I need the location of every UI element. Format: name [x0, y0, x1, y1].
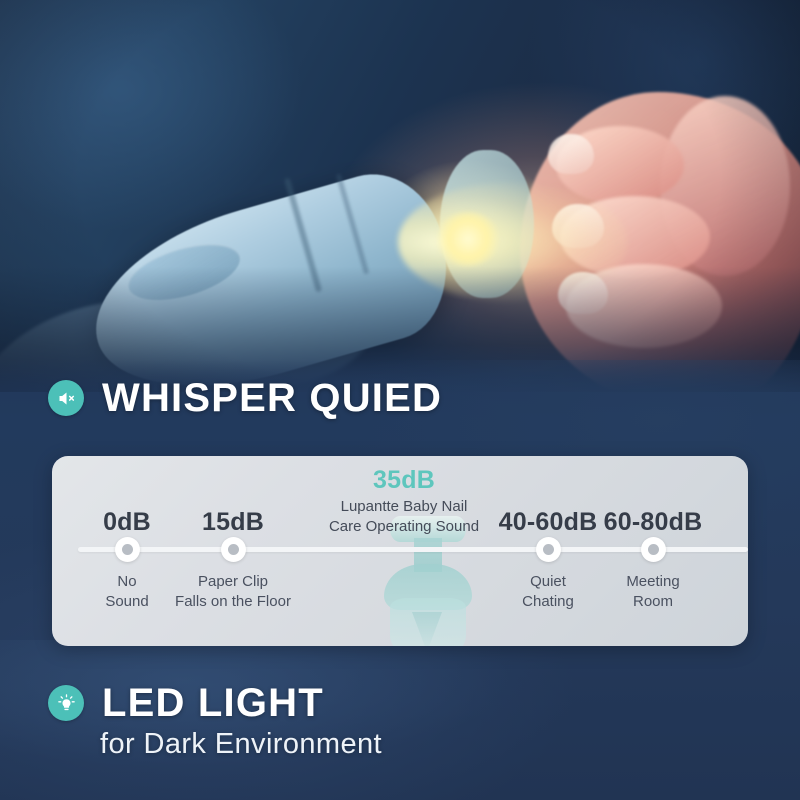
feature-whisper-quiet: WHISPER QUIED [48, 378, 442, 418]
scale-label-line-2: Chating [522, 592, 574, 612]
feature-subtitle: for Dark Environment [100, 728, 382, 761]
marker-dot [648, 544, 659, 555]
scale-value-40-60db: 40-60dB [499, 508, 598, 537]
scale-marker-60-80db[interactable] [641, 537, 666, 562]
feature-title: LED LIGHT [102, 683, 324, 723]
callout-decibel-value: 35dB [373, 466, 435, 495]
photo-vignette [0, 0, 800, 392]
scale-value-0db: 0dB [103, 508, 151, 537]
scale-label-line-2: Falls on the Floor [175, 592, 291, 612]
marker-dot [543, 544, 554, 555]
decibel-comparison-panel: 35dB Lupantte Baby Nail Care Operating S… [52, 456, 748, 646]
scale-marker-0db[interactable] [115, 537, 140, 562]
scale-marker-15db[interactable] [221, 537, 246, 562]
feature-title: WHISPER QUIED [102, 378, 442, 418]
product-feature-page: WHISPER QUIED 35dB Lupantte Baby Nail Ca… [0, 0, 800, 800]
callout-caption-line-1: Lupantte Baby Nail [329, 497, 479, 517]
scale-value-15db: 15dB [202, 508, 264, 537]
scale-label-line-1: Meeting [626, 572, 679, 592]
marker-dot [122, 544, 133, 555]
scale-label-40-60db: Quiet Chating [522, 572, 574, 612]
scale-label-60-80db: Meeting Room [626, 572, 679, 612]
callout-caption: Lupantte Baby Nail Care Operating Sound [329, 497, 479, 538]
scale-label-line-1: Quiet [522, 572, 574, 592]
scale-label-15db: Paper Clip Falls on the Floor [175, 572, 291, 612]
scale-label-line-1: No [105, 572, 148, 592]
lightbulb-icon [48, 685, 84, 721]
callout-caption-line-2: Care Operating Sound [329, 517, 479, 537]
scale-label-line-2: Room [626, 592, 679, 612]
scale-label-0db: No Sound [105, 572, 148, 612]
feature-led-light: LED LIGHT [48, 683, 324, 723]
scale-label-line-2: Sound [105, 592, 148, 612]
speaker-mute-icon [48, 380, 84, 416]
hero-product-photo [0, 0, 800, 392]
scale-label-line-1: Paper Clip [175, 572, 291, 592]
scale-value-60-80db: 60-80dB [604, 508, 703, 537]
marker-dot [228, 544, 239, 555]
scale-marker-40-60db[interactable] [536, 537, 561, 562]
